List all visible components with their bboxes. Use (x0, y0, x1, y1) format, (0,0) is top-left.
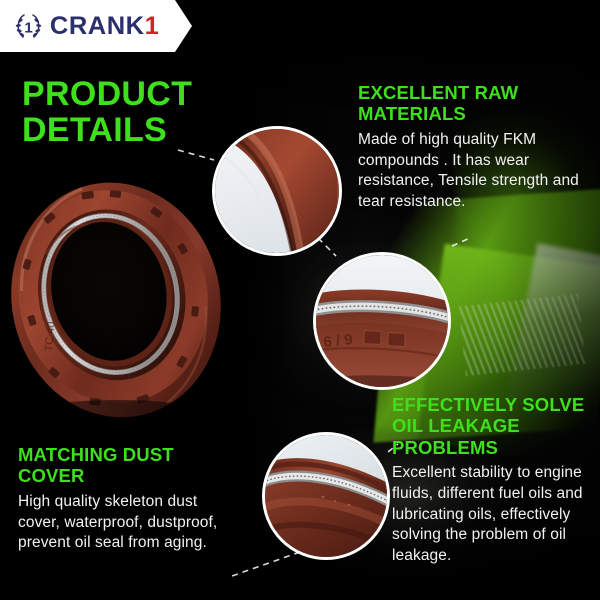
callout-spring-coil: 6 / 9 (313, 252, 451, 390)
brand-name-main: CRANK (50, 12, 145, 40)
page-title-line2: DETAILS (22, 112, 252, 148)
feature-block-raw-materials: EXCELLENT RAW MATERIALS Made of high qua… (358, 82, 590, 212)
feature-heading-oil-leakage: EFFECTIVELY SOLVE OIL LEAKAGE PROBLEMS (392, 394, 592, 458)
feature-body-dust-cover: High quality skeleton dust cover, waterp… (18, 492, 236, 554)
brand-name-accent: 1 (145, 12, 160, 40)
feature-heading-raw-materials: EXCELLENT RAW MATERIALS (358, 82, 590, 125)
wreath-numeral: 1 (24, 19, 32, 36)
feature-body-oil-leakage: Excellent stability to engine fluids, di… (392, 463, 592, 566)
callout-spring-groove (262, 432, 390, 560)
page-title-line1: PRODUCT (22, 76, 252, 112)
feature-block-dust-cover: MATCHING DUST COVER High quality skeleto… (18, 444, 236, 554)
feature-block-oil-leakage: EFFECTIVELY SOLVE OIL LEAKAGE PROBLEMS E… (392, 394, 592, 566)
hero-oil-seal-image: TC 40 (2, 176, 230, 424)
feature-body-raw-materials: Made of high quality FKM compounds . It … (358, 130, 590, 212)
laurel-wreath-number-one-icon: 1 (13, 11, 44, 42)
feature-heading-dust-cover: MATCHING DUST COVER (18, 444, 236, 487)
page-title: PRODUCT DETAILS (22, 76, 252, 148)
brand-header-banner: 1 CRANK1 (0, 0, 192, 52)
brand-wordmark: CRANK1 (50, 14, 159, 39)
product-details-infographic: TC 40 (0, 0, 600, 600)
svg-text:6 / 9: 6 / 9 (323, 331, 354, 351)
